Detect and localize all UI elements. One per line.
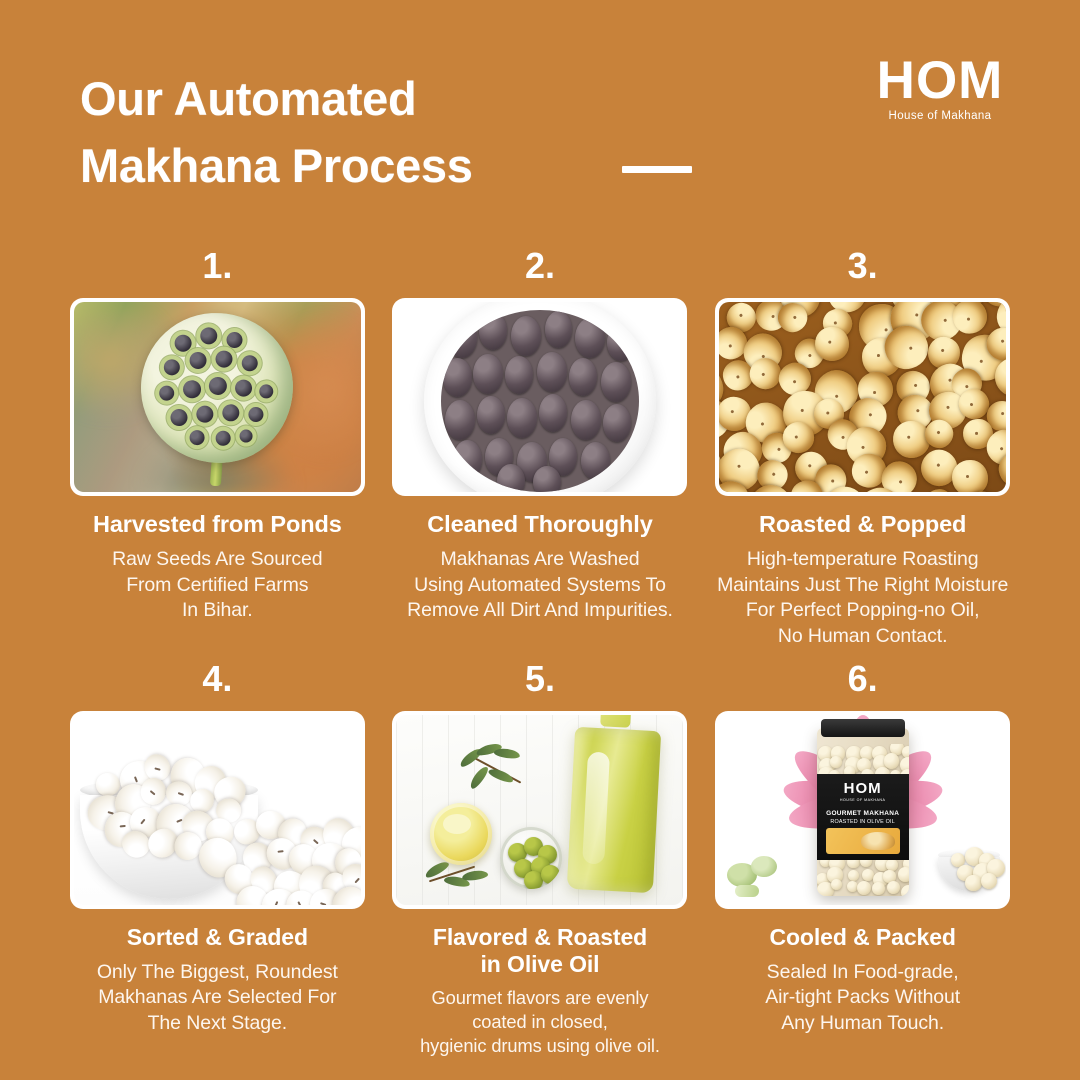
- side-bowl-makhana-piece: [981, 873, 997, 889]
- process-step-card-6: 6.: [701, 661, 1024, 1068]
- jar-makhana-piece: [898, 867, 908, 881]
- step-number: 4.: [202, 661, 232, 697]
- step-title: Roasted & Popped: [759, 511, 966, 538]
- process-steps-grid: 1.: [0, 248, 1080, 1068]
- white-makhana-bowl-photo: [74, 715, 361, 905]
- infographic-poster: Our Automated Makhana Process HOM House …: [0, 0, 1080, 1080]
- header: Our Automated Makhana Process HOM House …: [0, 0, 1080, 230]
- popped-makhana: [952, 460, 988, 492]
- bowl-interior: [441, 310, 639, 492]
- process-step-card-5: 5.: [379, 661, 702, 1068]
- step-number: 5.: [525, 661, 555, 697]
- label-tagline: HOUSE OF MAKHANA: [817, 798, 909, 802]
- bottle-neck: [601, 715, 633, 728]
- step-image-frame: HOM HOUSE OF MAKHANA GOURMET MAKHANA ROA…: [715, 711, 1010, 909]
- jar-makhana-piece: [831, 879, 842, 890]
- step-number: 2.: [525, 248, 555, 284]
- jar-makhana-piece: [872, 882, 885, 895]
- lotus-seed-pod-photo: [74, 302, 361, 492]
- raw-makhana-seeds-bowl-photo: [396, 302, 683, 492]
- lotus-leaf: [751, 856, 777, 877]
- lotus-seed-slice: [735, 885, 759, 897]
- olive-oil-bottle-photo: [396, 715, 683, 905]
- step-description: Makhanas Are Washed Using Automated Syst…: [407, 547, 673, 624]
- white-makhana: [96, 773, 120, 796]
- popped-makhana: [924, 488, 953, 492]
- step-description: Raw Seeds Are Sourced From Certified Far…: [112, 547, 322, 624]
- step-description: Sealed In Food-grade, Air-tight Packs Wi…: [765, 960, 960, 1037]
- process-step-card-1: 1.: [56, 248, 379, 655]
- jar-makhana-top: [817, 744, 909, 776]
- step-description: Gourmet flavors are evenly coated in clo…: [420, 986, 660, 1058]
- label-product-name: GOURMET MAKHANA: [817, 810, 909, 817]
- step-title: Cleaned Thoroughly: [427, 511, 652, 538]
- step-image-frame: [70, 298, 365, 496]
- roasted-popped-makhana-photo: [719, 302, 1006, 492]
- olive-leaf: [462, 869, 489, 882]
- page-title: Our Automated Makhana Process: [80, 66, 473, 199]
- olive-leaf: [468, 764, 491, 790]
- bottle-highlight: [583, 752, 611, 865]
- jar-makhana-piece: [901, 885, 909, 896]
- jar-makhana-piece: [830, 756, 842, 768]
- popped-makhana: [953, 302, 987, 334]
- step-description: Only The Biggest, Roundest Makhanas Are …: [97, 960, 338, 1037]
- step-title: Cooled & Packed: [769, 924, 955, 951]
- olive-leaf: [494, 747, 521, 760]
- process-step-card-3: 3. Roasted & Popped High-temperature Roa…: [701, 248, 1024, 655]
- step-number: 1.: [202, 248, 232, 284]
- jar-makhana-piece: [887, 881, 900, 894]
- side-bowl-makhana-piece: [965, 875, 981, 891]
- logo-tagline: House of Makhana: [855, 110, 1025, 122]
- label-product-window: [826, 828, 900, 854]
- lotus-pod: [138, 309, 298, 467]
- step-title: Harvested from Ponds: [93, 511, 342, 538]
- jar-makhana-bottom: [817, 858, 909, 896]
- logo-wordmark: HOM: [855, 56, 1025, 106]
- label-roast-line: ROASTED IN OLIVE OIL: [817, 819, 909, 825]
- title-rule: [622, 166, 692, 173]
- product-jar: HOM HOUSE OF MAKHANA GOURMET MAKHANA ROA…: [817, 728, 909, 896]
- oil-dish: [430, 803, 492, 865]
- product-label: HOM HOUSE OF MAKHANA GOURMET MAKHANA ROA…: [817, 774, 909, 860]
- process-step-card-4: 4. Sorted & Graded Only The Biggest, Rou…: [56, 661, 379, 1068]
- jar-makhana-piece: [857, 881, 871, 895]
- step-image-frame: [392, 711, 687, 909]
- jar-makhana-piece: [848, 870, 860, 882]
- olive-leaf: [488, 766, 515, 784]
- step-number: 3.: [848, 248, 878, 284]
- brand-logo: HOM House of Makhana: [855, 56, 1025, 122]
- jar-makhana-piece: [862, 869, 875, 882]
- step-title: Flavored & Roasted in Olive Oil: [433, 924, 647, 977]
- popped-makhana: [987, 481, 1007, 492]
- olives-dish: [500, 827, 562, 889]
- label-wordmark: HOM: [817, 781, 909, 796]
- jar-makhana-piece: [902, 746, 909, 758]
- white-bowl: [424, 302, 656, 492]
- step-image-frame: [392, 298, 687, 496]
- step-image-frame: [715, 298, 1010, 496]
- jar-makhana-piece: [886, 859, 898, 871]
- step-number: 6.: [848, 661, 878, 697]
- jar-lid: [821, 719, 905, 737]
- step-image-frame: [70, 711, 365, 909]
- step-description: High-temperature Roasting Maintains Just…: [717, 547, 1008, 649]
- step-title: Sorted & Graded: [127, 924, 308, 951]
- hom-product-jar-photo: HOM HOUSE OF MAKHANA GOURMET MAKHANA ROA…: [719, 715, 1006, 905]
- olive-oil-bottle: [567, 727, 661, 893]
- process-step-card-2: 2.: [379, 248, 702, 655]
